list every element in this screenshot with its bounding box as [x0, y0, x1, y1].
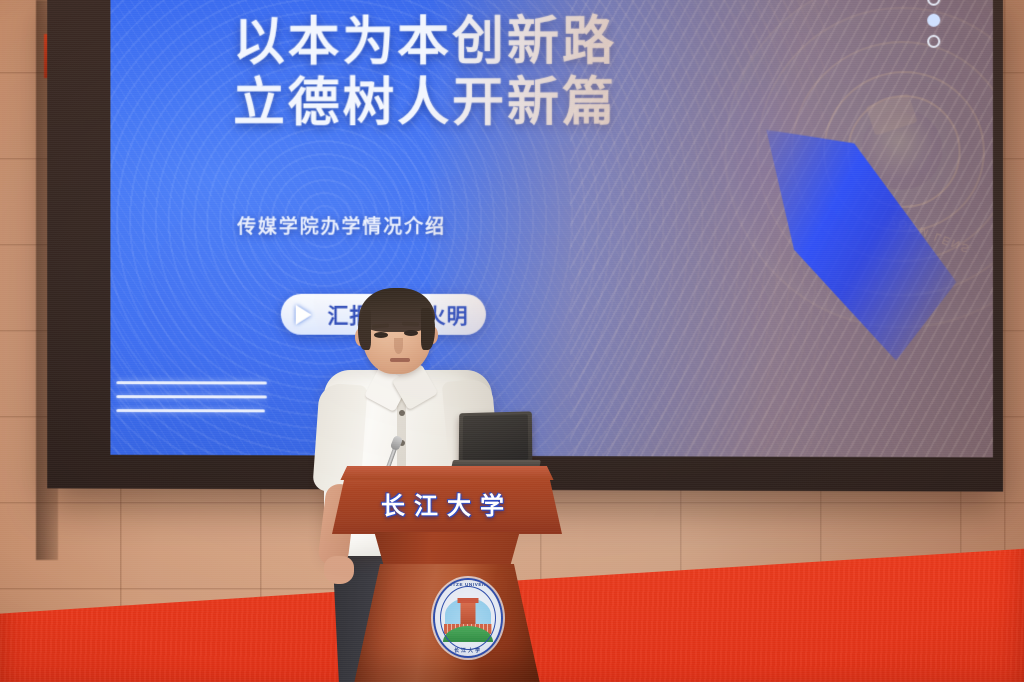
university-seal-icon: YANGTZE UNIVERSITY 长江大学: [435, 580, 501, 656]
speaker-nose: [394, 338, 403, 354]
slide-pager-dots: [927, 0, 940, 48]
laptop-lid: [459, 411, 533, 464]
play-triangle: [296, 304, 312, 324]
presentation-scene-photo: ZOOM LENS 以本为本创新路 立德树人开新篇 传媒学院办学情况介绍 汇报人…: [0, 0, 1024, 682]
microphone-head: [390, 435, 404, 451]
shirt-button-1: [399, 410, 405, 416]
screen-glare-texture: [570, 0, 993, 457]
lectern-podium: 长江大学 YANGTZE UNIVERSITY 长江大学: [332, 462, 562, 682]
play-icon: [289, 299, 319, 329]
pager-dot-1: [927, 0, 940, 6]
podium-university-name: 长江大学: [332, 486, 562, 521]
speaker-eye-right: [404, 330, 418, 336]
speaker-eye-left: [374, 332, 388, 338]
deco-line-1: [116, 381, 267, 384]
speaker-hair-side-left: [358, 310, 371, 350]
slide-decorative-lines: [116, 381, 275, 423]
projection-screen-surface: ZOOM LENS 以本为本创新路 立德树人开新篇 传媒学院办学情况介绍 汇报人…: [110, 0, 993, 457]
seal-arc-top-text: YANGTZE UNIVERSITY: [435, 582, 501, 587]
podium-top-lip: [336, 466, 558, 480]
pager-dot-2-active: [927, 14, 940, 27]
speaker-hair-side-right: [421, 308, 435, 350]
podium-neck: [368, 532, 526, 566]
speaker-mouth: [390, 358, 410, 362]
deco-line-2: [116, 395, 267, 398]
seal-arc-bottom-text: 长江大学: [435, 647, 501, 654]
laptop-screen: [463, 414, 529, 460]
speaker-eyebrow-right: [402, 322, 419, 327]
deco-line-3: [116, 409, 265, 412]
slide-subtitle: 传媒学院办学情况介绍: [237, 212, 446, 239]
seal-ring: [440, 586, 496, 650]
pager-dot-3: [927, 35, 940, 48]
